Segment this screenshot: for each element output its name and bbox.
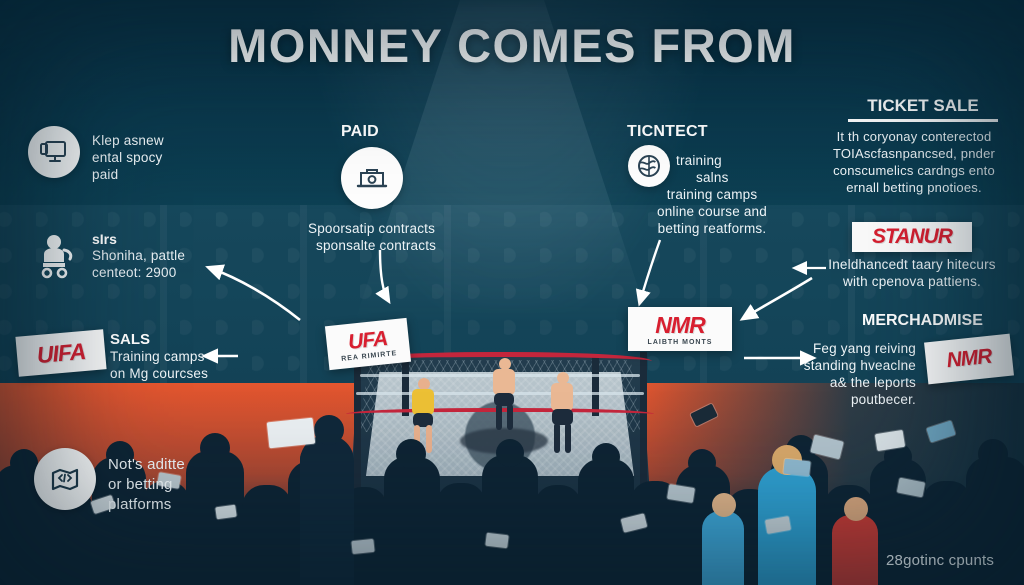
callout-sirs: sIrs Shoniha, pattle centeot: 2900 <box>92 231 262 281</box>
callout-ticntect-heading: TICNTECT <box>627 123 708 141</box>
callout-ticntect-inline: training salns <box>676 152 786 186</box>
infographic-canvas: MONNEY COMES FROM <box>0 0 1024 585</box>
globe-icon <box>628 145 670 187</box>
callout-sals-line-2: on Mg courcses <box>110 365 260 382</box>
callout-paid-heading: PAID <box>341 123 379 141</box>
callout-ticntect-text: training camps online course and betting… <box>612 186 812 237</box>
callout-ticket-sale-heading: TICKET SALE <box>867 96 978 115</box>
person-icon <box>34 230 82 282</box>
callout-sals-line-1: Training camps <box>110 348 260 365</box>
nmr-banner-sub: LAIBTH MONTS <box>648 339 713 346</box>
callout-ticket-sale-heading-wrap: TICKET SALE <box>848 96 998 122</box>
callout-stanur-text: Ineldhancedt taary hitecurs with cpenova… <box>812 256 1012 290</box>
callout-merch-heading: MERCHADMISE <box>862 312 983 330</box>
callout-sirs-line-1: Shoniha, pattle <box>92 247 262 264</box>
monitor-icon <box>28 126 80 178</box>
callout-sals-heading: SALS <box>110 331 260 348</box>
merch-nmr-logo: NMR <box>924 334 1014 385</box>
camera-case-icon <box>341 147 403 209</box>
callout-sirs-line-2: centeot: 2900 <box>92 264 262 281</box>
stanur-logo: STANUR <box>852 222 972 252</box>
nmr-banner-text: NMR <box>655 312 704 339</box>
stanur-logo-text: STANUR <box>872 225 952 249</box>
heading-underline <box>848 119 998 122</box>
footer-note: 28gotinc cpunts <box>886 552 994 569</box>
merch-nmr-logo-text: NMR <box>945 345 992 374</box>
callout-paid-text: Spoorsatip contracts sponsalte contracts <box>308 220 528 254</box>
callout-betting-text: Not's aditte or betting platforms <box>108 455 258 515</box>
callout-merch-text: Feg yang reiving standing hveaclne a& th… <box>800 340 916 408</box>
uifa-logo: UIFA <box>15 329 106 377</box>
callout-sals: SALS Training camps on Mg courcses <box>110 331 260 382</box>
callout-screens-text: Klep asnew ental spocy paid <box>92 132 232 183</box>
ring-banner-right: NMR LAIBTH MONTS <box>628 307 732 351</box>
callout-sirs-heading: sIrs <box>92 231 262 247</box>
code-map-icon <box>34 448 96 510</box>
callout-ticket-sale-text: It th coryonay conterectod TOIAscfasnpan… <box>808 128 1020 196</box>
ring-banner-left: UFA REA RIMIRTE <box>325 318 411 370</box>
uifa-logo-text: UIFA <box>36 337 87 368</box>
